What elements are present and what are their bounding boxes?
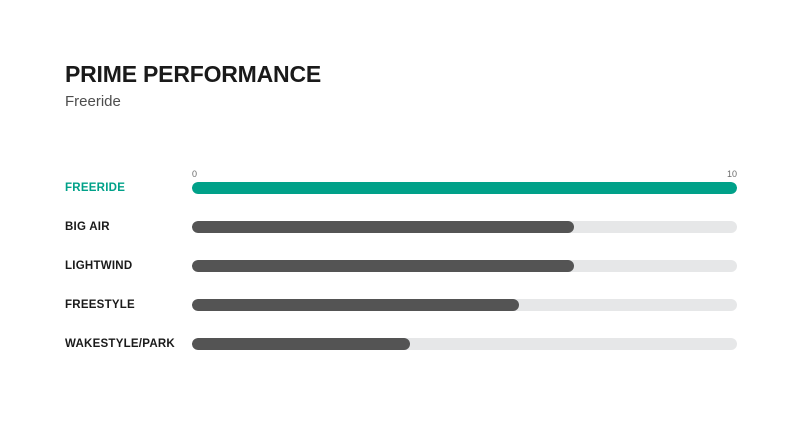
bar-row: BIG AIR xyxy=(0,221,800,260)
chart-header: PRIME PERFORMANCE Freeride xyxy=(65,60,321,112)
bar-track xyxy=(192,338,737,350)
bar-fill xyxy=(192,260,574,272)
bar-row: FREESTYLE xyxy=(0,299,800,338)
bar-fill xyxy=(192,338,410,350)
page-title: PRIME PERFORMANCE xyxy=(65,60,321,88)
bar-fill xyxy=(192,299,519,311)
performance-chart-card: PRIME PERFORMANCE Freeride 0 10 FREERIDE… xyxy=(0,0,800,427)
axis-tick-min: 0 xyxy=(192,168,197,180)
bar-label: LIGHTWIND xyxy=(65,260,132,272)
bar-track xyxy=(192,299,737,311)
bar-fill xyxy=(192,182,737,194)
bar-label: BIG AIR xyxy=(65,221,110,233)
bar-row: FREERIDE xyxy=(0,182,800,221)
bar-rows: FREERIDEBIG AIRLIGHTWINDFREESTYLEWAKESTY… xyxy=(0,182,800,377)
bar-label: FREERIDE xyxy=(65,182,125,194)
bar-label: WAKESTYLE/PARK xyxy=(65,338,175,350)
chart-axis: 0 10 xyxy=(192,168,737,182)
bar-track xyxy=(192,260,737,272)
chart-subtitle: Freeride xyxy=(65,92,321,112)
bar-row: WAKESTYLE/PARK xyxy=(0,338,800,377)
bar-fill xyxy=(192,221,574,233)
axis-tick-max: 10 xyxy=(727,168,737,180)
bar-row: LIGHTWIND xyxy=(0,260,800,299)
bar-track xyxy=(192,182,737,194)
bar-track xyxy=(192,221,737,233)
bar-label: FREESTYLE xyxy=(65,299,135,311)
